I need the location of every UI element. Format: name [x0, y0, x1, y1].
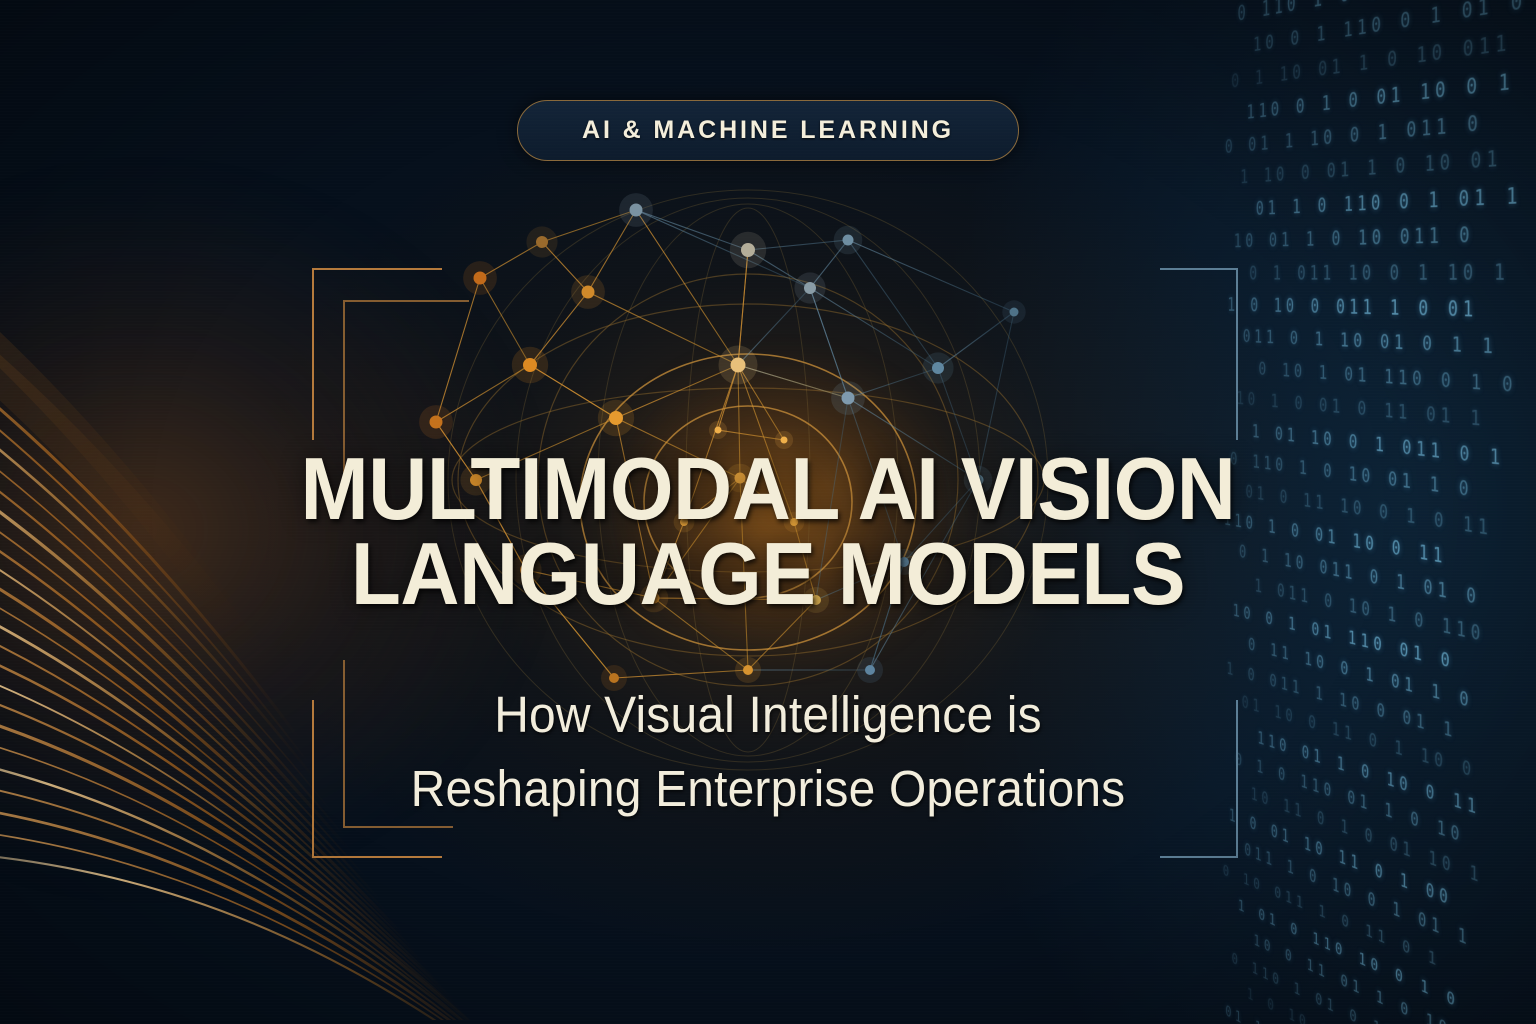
page-subtitle: How Visual Intelligence is Reshaping Ent… [46, 678, 1490, 826]
category-badge[interactable]: AI & MACHINE LEARNING [517, 100, 1019, 161]
poster-content: AI & MACHINE LEARNING MULTIMODAL AI VISI… [0, 0, 1536, 1024]
category-badge-label: AI & MACHINE LEARNING [582, 116, 954, 145]
subtitle-line-1: How Visual Intelligence is [494, 686, 1042, 743]
poster-canvas: 1 0 1 001 0 1 0110 10 110 1 0 01 0 1 101… [0, 0, 1536, 1024]
page-title: MULTIMODAL AI VISION LANGUAGE MODELS [54, 446, 1482, 617]
subtitle-line-2: Reshaping Enterprise Operations [46, 752, 1490, 826]
title-line-2: LANGUAGE MODELS [54, 531, 1482, 616]
